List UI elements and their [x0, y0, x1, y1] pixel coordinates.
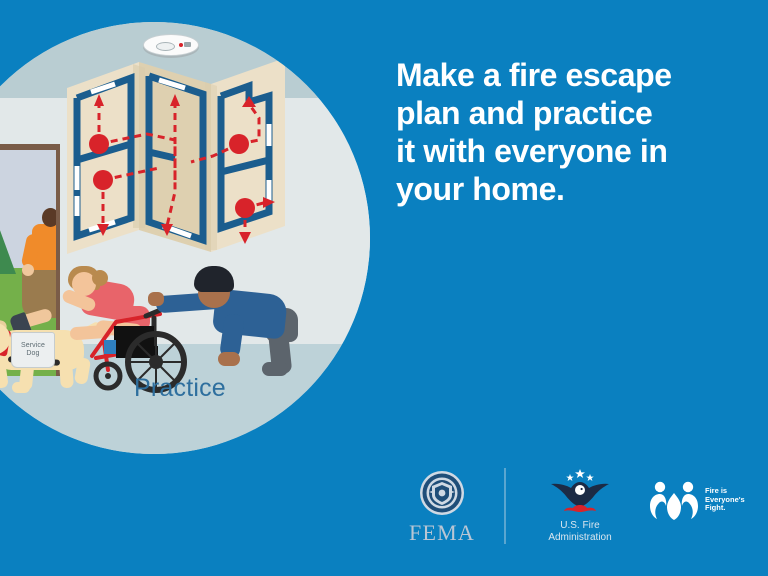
logo-divider [504, 468, 506, 544]
practice-caption: Practice [134, 374, 226, 403]
fief-people-flame-svg [648, 480, 700, 520]
escape-plan-svg [63, 40, 298, 270]
fief-line-3: Fight. [705, 504, 745, 513]
man-hand [148, 292, 164, 306]
fire-is-everyones-fight-logo: Fire is Everyone's Fight. [648, 480, 768, 520]
dhs-seal-svg [419, 470, 465, 516]
person-hand [22, 264, 34, 276]
usfa-line-2: Administration [522, 532, 638, 544]
usfa-eagle-svg [547, 468, 613, 516]
usfa-eagle-icon [547, 468, 613, 516]
fief-people-flame-icon [648, 480, 700, 520]
service-dog-vest: ServiceDog [11, 332, 55, 368]
headline-line-4: your home. [396, 170, 736, 208]
headline-line-2: plan and practice [396, 94, 736, 132]
poster-canvas: ServiceDog [0, 0, 768, 576]
person-head [42, 208, 56, 227]
man-foot [262, 362, 288, 376]
dog-paw [12, 382, 30, 393]
tree-icon [0, 222, 16, 274]
usfa-line-1: U.S. Fire [522, 520, 638, 532]
headline-line-1: Make a fire escape [396, 56, 736, 94]
headline-line-3: it with everyone in [396, 132, 736, 170]
man-crawling [184, 266, 302, 386]
usfa-wordmark: U.S. Fire Administration [522, 520, 638, 544]
fief-wordmark: Fire is Everyone's Fight. [705, 487, 745, 513]
dhs-seal-icon [419, 470, 465, 516]
fema-logo: FEMA [392, 470, 492, 546]
page-headline: Make a fire escape plan and practice it … [396, 56, 736, 208]
fema-wordmark: FEMA [392, 520, 492, 546]
service-dog-vest-text: ServiceDog [21, 342, 45, 358]
man-hair [194, 266, 234, 292]
logo-bar: FEMA U.S. Fire Administ [386, 466, 756, 552]
us-fire-administration-logo: U.S. Fire Administration [522, 468, 638, 544]
escape-plan-map [63, 40, 298, 270]
illustration-circle: ServiceDog [0, 22, 370, 454]
woman-hair-bun [92, 270, 108, 286]
man-hand [218, 352, 240, 366]
